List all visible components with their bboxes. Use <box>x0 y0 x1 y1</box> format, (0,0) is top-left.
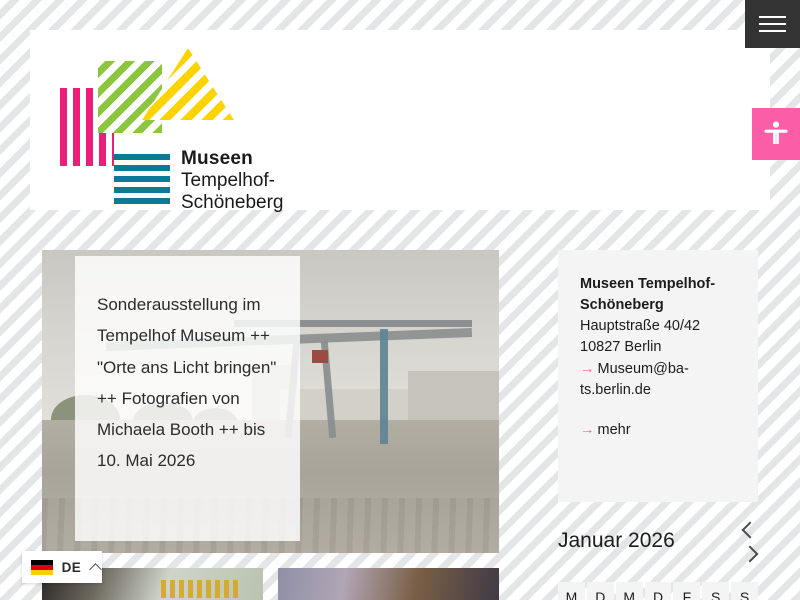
calendar-weekday: S <box>702 582 729 600</box>
main-content: Sonderausstellung im Tempelhof Museum ++… <box>0 220 800 600</box>
arrow-right-icon: → <box>580 361 595 377</box>
arrow-right-icon: → <box>580 422 595 438</box>
calendar-weekday-row: M D M D F S S <box>558 582 758 600</box>
calendar-weekday: D <box>645 582 672 600</box>
accessibility-icon <box>763 120 789 148</box>
museum-name: Museen Tempelhof-Schöneberg <box>580 274 736 316</box>
language-code: DE <box>62 560 82 575</box>
logo-line-3: Schöneberg <box>181 192 283 214</box>
site-header: Museen Tempelhof- Schöneberg <box>30 30 770 210</box>
sidebar: Museen Tempelhof-Schöneberg Hauptstraße … <box>558 250 758 600</box>
chevron-right-icon[interactable] <box>740 544 758 562</box>
german-flag-icon <box>31 560 53 575</box>
museum-email-text: Museum@ba-ts.berlin.de <box>580 361 689 398</box>
language-switcher[interactable]: DE <box>22 551 102 583</box>
museum-info-card: Museen Tempelhof-Schöneberg Hauptstraße … <box>558 250 758 502</box>
hero-slide[interactable]: Sonderausstellung im Tempelhof Museum ++… <box>42 250 499 553</box>
calendar-weekday: F <box>673 582 700 600</box>
museum-more-text: mehr <box>598 422 631 438</box>
site-logo[interactable]: Museen Tempelhof- Schöneberg <box>46 48 316 198</box>
logo-mark <box>46 48 226 158</box>
teaser-card-2[interactable] <box>278 568 499 600</box>
calendar-weekday: M <box>558 582 585 600</box>
menu-button[interactable] <box>745 0 800 48</box>
logo-teal-bars-icon <box>114 148 170 214</box>
teaser-list <box>42 568 499 600</box>
logo-line-2: Tempelhof- <box>181 170 283 192</box>
museum-email-link[interactable]: →Museum@ba-ts.berlin.de <box>580 359 736 402</box>
hero-caption: Sonderausstellung im Tempelhof Museum ++… <box>75 256 300 541</box>
museum-city: 10827 Berlin <box>580 337 736 358</box>
calendar-header: Januar 2026 <box>558 520 758 562</box>
calendar-navigation <box>740 520 758 562</box>
calendar-weekday: M <box>616 582 643 600</box>
museum-street: Hauptstraße 40/42 <box>580 316 736 337</box>
menu-icon <box>759 16 786 18</box>
museum-more-link[interactable]: →mehr <box>580 420 736 441</box>
hero-caption-text: Sonderausstellung im Tempelhof Museum ++… <box>97 289 278 477</box>
logo-green-stripes-icon <box>98 61 162 133</box>
logo-line-1: Museen <box>181 148 283 170</box>
calendar-weekday: S <box>731 582 758 600</box>
chevron-left-icon[interactable] <box>740 520 758 538</box>
accessibility-button[interactable] <box>752 108 800 160</box>
calendar-month-title: Januar 2026 <box>558 529 675 553</box>
page-background: Museen Tempelhof- Schöneberg <box>0 0 800 600</box>
chevron-up-icon <box>90 561 102 573</box>
event-calendar: Januar 2026 M D M D F S S <box>558 520 758 600</box>
calendar-weekday: D <box>587 582 614 600</box>
logo-wordmark: Museen Tempelhof- Schöneberg <box>114 148 283 214</box>
